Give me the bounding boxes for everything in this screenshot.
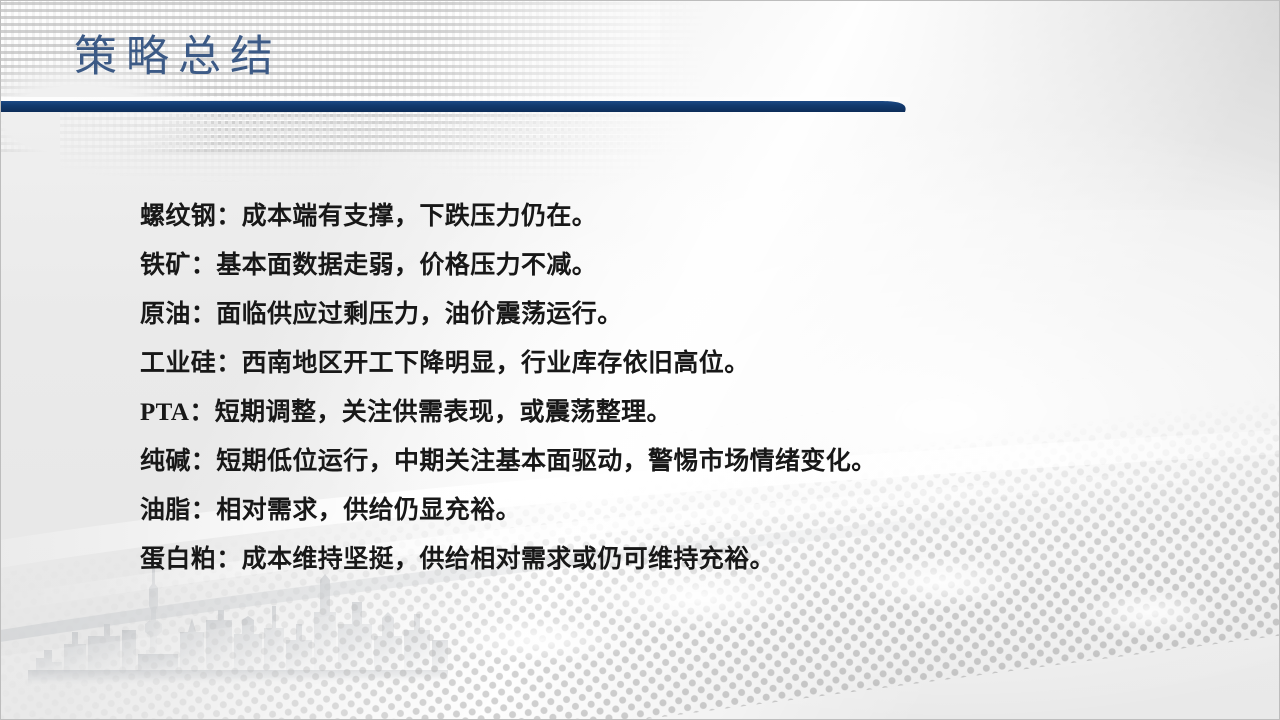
strategy-summary-list: 螺纹钢：成本端有支撑，下跌压力仍在。 铁矿：基本面数据走弱，价格压力不减。 原油…: [140, 192, 1190, 584]
list-item: PTA：短期调整，关注供需表现，或震荡整理。: [140, 388, 1190, 437]
list-item: 工业硅：西南地区开工下降明显，行业库存依旧高位。: [140, 339, 1190, 388]
slide-canvas: 策略总结 螺纹钢：成本端有支撑，下跌压力仍在。 铁矿：基本面数据走弱，价格压力不…: [0, 0, 1280, 720]
list-item: 原油：面临供应过剩压力，油价震荡运行。: [140, 290, 1190, 339]
list-item: 蛋白粕：成本维持坚挺，供给相对需求或仍可维持充裕。: [140, 535, 1190, 584]
navy-accent-rule: [0, 101, 916, 112]
list-item: 纯碱：短期低位运行，中期关注基本面驱动，警惕市场情绪变化。: [140, 437, 1190, 486]
list-item: 铁矿：基本面数据走弱，价格压力不减。: [140, 241, 1190, 290]
list-item: 油脂：相对需求，供给仍显充裕。: [140, 486, 1190, 535]
list-item: 螺纹钢：成本端有支撑，下跌压力仍在。: [140, 192, 1190, 241]
page-title: 策略总结: [74, 36, 282, 79]
slide-header: 策略总结: [0, 0, 1280, 112]
